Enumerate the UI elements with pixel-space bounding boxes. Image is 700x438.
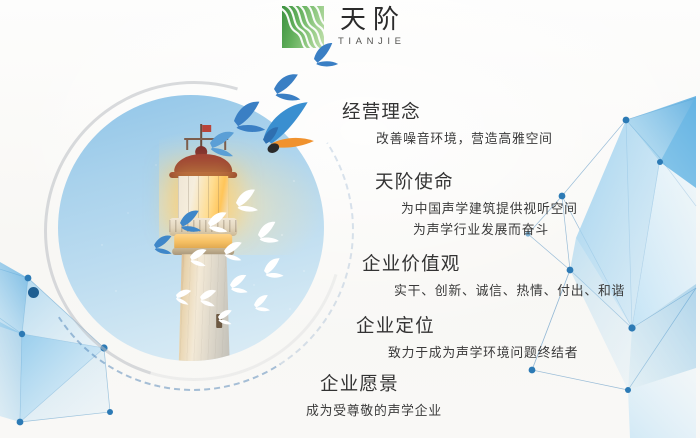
lighthouse-photo-composition: [58, 95, 324, 361]
statement-line: 成为受尊敬的声学企业: [306, 400, 442, 419]
ring-node-dot: [28, 287, 39, 298]
statement-line: 为中国声学建筑提供视听空间: [401, 198, 578, 217]
statement-title: 经营理念: [342, 98, 553, 124]
company-culture-banner: 天阶 TIANJIE: [0, 0, 700, 438]
statement-title: 企业价值观: [362, 250, 625, 276]
statement-core-values: 企业价值观 实干、创新、诚信、热情、付出、和谐: [362, 250, 625, 299]
statement-line: 致力于成为声学环境问题终结者: [388, 342, 578, 361]
statement-title: 天阶使命: [375, 168, 578, 194]
colorful-lead-bird-icon: [255, 100, 323, 160]
statement-vision: 企业愿景 成为受尊敬的声学企业: [320, 370, 442, 419]
statement-mission: 天阶使命 为中国声学建筑提供视听空间 为声学行业发展而奋斗: [375, 168, 578, 238]
statement-business-philosophy: 经营理念 改善噪音环境，营造高雅空间: [342, 98, 553, 147]
statement-line: 为声学行业发展而奋斗: [413, 219, 578, 238]
statement-line: 改善噪音环境，营造高雅空间: [376, 128, 553, 147]
statement-title: 企业定位: [356, 312, 578, 338]
statement-line: 实干、创新、诚信、热情、付出、和谐: [394, 280, 625, 299]
brand-name-cn: 天阶: [333, 7, 406, 34]
statement-positioning: 企业定位 致力于成为声学环境问题终结者: [356, 312, 578, 361]
statement-title: 企业愿景: [320, 370, 442, 396]
